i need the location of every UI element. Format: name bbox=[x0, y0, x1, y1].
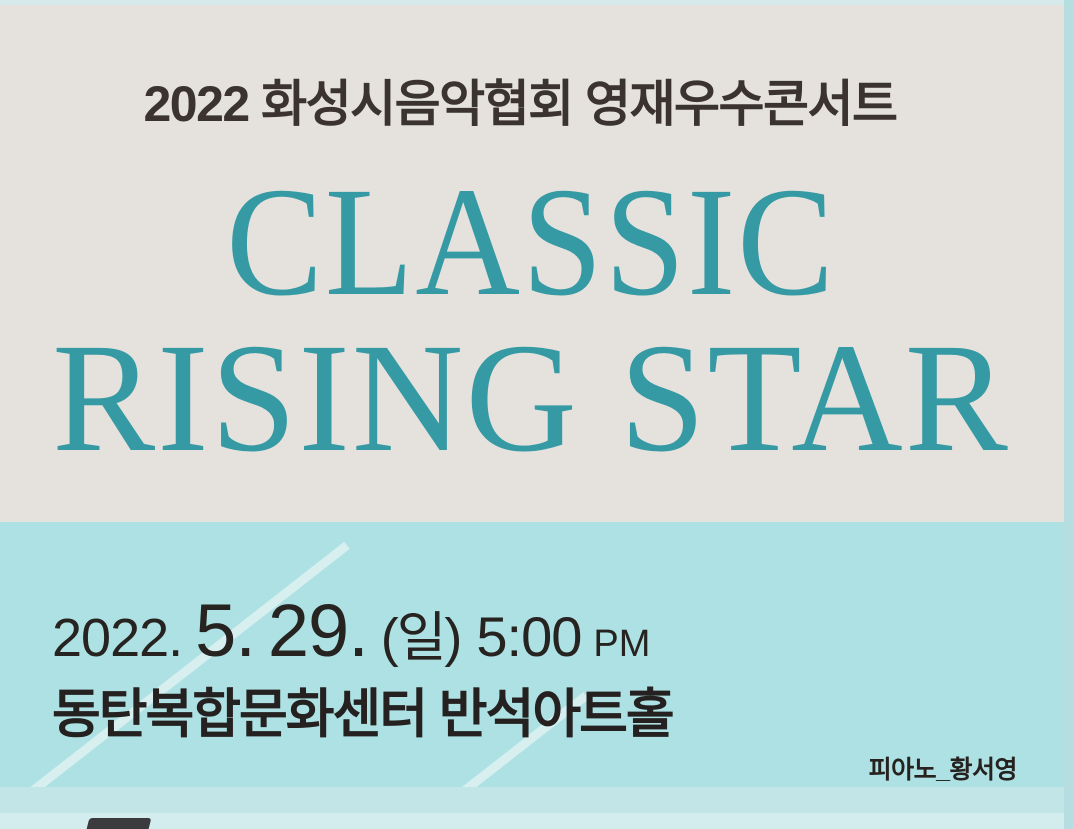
performer-credit: 피아노_황서영 bbox=[869, 750, 1017, 786]
poster-title-line-2: RISING STAR bbox=[5, 324, 1056, 472]
event-year: 2022 bbox=[52, 607, 168, 669]
poster-title-line-1: CLASSIC bbox=[37, 168, 1025, 316]
event-date-line: 2022 . 5 . 29 . (일) 5:00 PM bbox=[52, 588, 650, 673]
right-accent-strip bbox=[1064, 0, 1073, 829]
event-ampm: PM bbox=[581, 623, 650, 666]
concert-poster: 2022 화성시음악협회 영재우수콘서트 CLASSIC RISING STAR… bbox=[0, 0, 1073, 829]
event-venue: 동탄복합문화센터 반석아트홀 bbox=[52, 672, 673, 748]
event-weekday: (일) bbox=[381, 593, 461, 672]
event-month: 5 bbox=[195, 588, 235, 673]
bottom-edge-object bbox=[87, 818, 152, 829]
top-accent-strip bbox=[0, 0, 1073, 5]
bottom-light-band-inner bbox=[0, 813, 1073, 829]
poster-title-block: CLASSIC RISING STAR bbox=[0, 168, 1062, 472]
event-year-dot: . bbox=[168, 607, 195, 669]
poster-kicker-text: 2022 화성시음악협회 영재우수콘서트 bbox=[0, 64, 1040, 136]
event-day: 29 bbox=[268, 588, 348, 673]
event-day-dot: . bbox=[348, 588, 381, 673]
event-time: 5:00 bbox=[460, 604, 581, 669]
event-month-dot: . bbox=[235, 588, 268, 673]
